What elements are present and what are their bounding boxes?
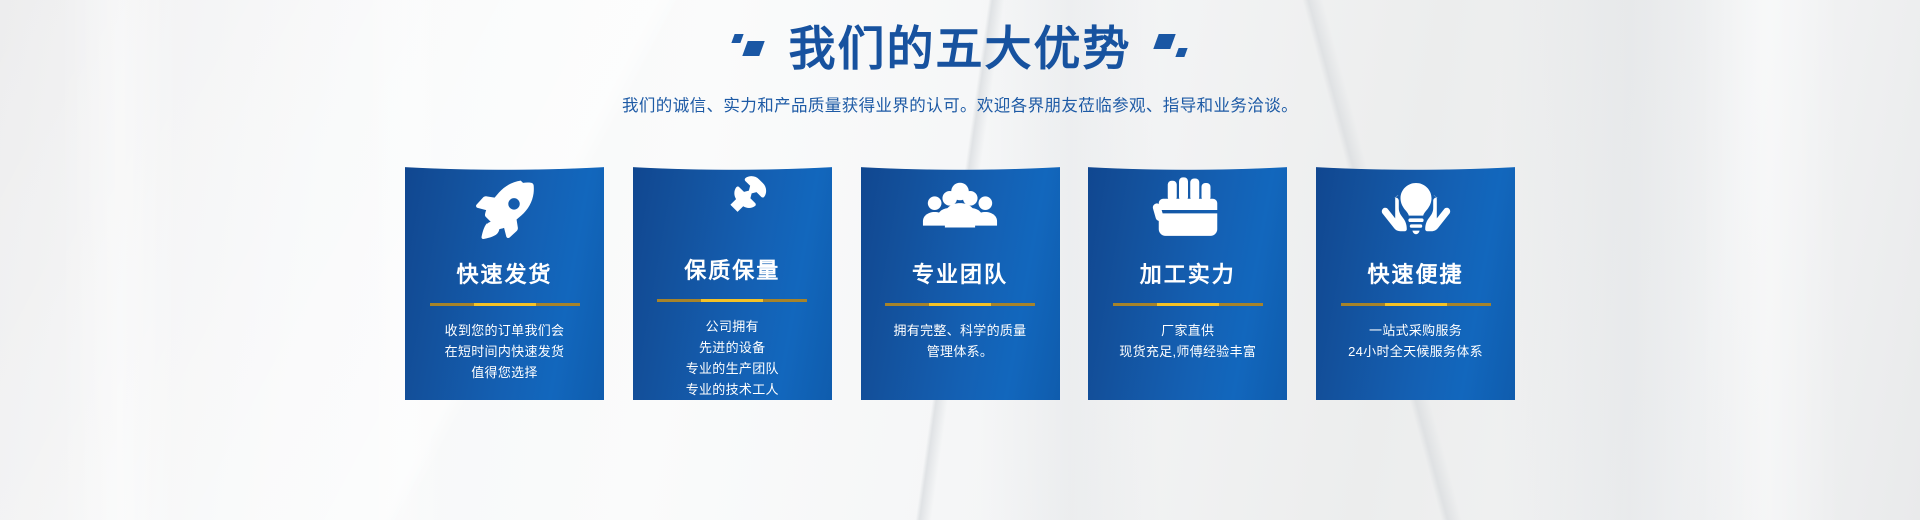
- promo-banner: 我们的五大优势 我们的诚信、实力和产品质量获得业界的认可。欢迎各界朋友莅临参观、…: [0, 0, 1920, 520]
- card-description-line: 拥有完整、科学的质量: [893, 320, 1026, 341]
- card-description: 公司拥有 先进的设备 专业的生产团队 专业的技术工人: [678, 316, 787, 400]
- card-title: 保质保量: [684, 260, 780, 282]
- lightbulb-hands-icon: [1376, 154, 1456, 266]
- card-description-line: 管理体系。: [893, 341, 1026, 362]
- card-divider: [1113, 303, 1263, 306]
- card-divider: [657, 299, 807, 302]
- advantage-card[interactable]: 保质保量 公司拥有 先进的设备 专业的生产团队 专业的技术工人: [633, 140, 832, 400]
- card-title: 专业团队: [912, 264, 1008, 286]
- page-subtitle: 我们的诚信、实力和产品质量获得业界的认可。欢迎各界朋友莅临参观、指导和业务洽谈。: [0, 92, 1920, 116]
- diamond-pair-icon-right: [1154, 31, 1188, 65]
- advantage-card[interactable]: 快速便捷 一站式采购服务 24小时全天候服务体系: [1316, 140, 1515, 400]
- card-description-line: 24小时全天候服务体系: [1348, 341, 1483, 362]
- card-description-line: 先进的设备: [686, 337, 779, 358]
- advantage-card[interactable]: 快速发货 收到您的订单我们会 在短时间内快速发货 值得您选择: [405, 140, 604, 400]
- card-divider: [885, 303, 1035, 306]
- card-description: 一站式采购服务 24小时全天候服务体系: [1340, 320, 1491, 362]
- card-description-line: 公司拥有: [686, 316, 779, 337]
- advantage-card[interactable]: 加工实力 厂家直供 现货充足,师傅经验丰富: [1088, 140, 1287, 400]
- card-divider: [1341, 303, 1491, 306]
- heading-block: 我们的五大优势 我们的诚信、实力和产品质量获得业界的认可。欢迎各界朋友莅临参观、…: [0, 18, 1920, 116]
- card-description: 厂家直供 现货充足,师傅经验丰富: [1111, 320, 1264, 362]
- diamond-pair-icon-left: [733, 31, 767, 65]
- card-description-line: 值得您选择: [445, 362, 565, 383]
- card-description-line: 现货充足,师傅经验丰富: [1119, 341, 1256, 362]
- page-title: 我们的五大优势: [789, 25, 1132, 72]
- card-title: 加工实力: [1140, 264, 1236, 286]
- title-row: 我们的五大优势: [0, 18, 1920, 78]
- card-description-line: 收到您的订单我们会: [445, 320, 565, 341]
- card-title: 快速便捷: [1367, 264, 1463, 286]
- card-description-line: 一站式采购服务: [1348, 320, 1483, 341]
- card-description: 收到您的订单我们会 在短时间内快速发货 值得您选择: [437, 320, 573, 383]
- wrench-screwdriver-icon: [695, 154, 769, 262]
- card-title: 快速发货: [456, 264, 552, 286]
- card-description-line: 在短时间内快速发货: [445, 341, 565, 362]
- advantage-card[interactable]: 专业团队 拥有完整、科学的质量 管理体系。: [861, 140, 1060, 400]
- card-description-line: 专业的技术工人: [686, 379, 779, 400]
- rocket-icon: [468, 154, 542, 266]
- fist-strength-icon: [1152, 154, 1224, 266]
- team-group-icon: [921, 154, 999, 266]
- advantage-card-list: 快速发货 收到您的订单我们会 在短时间内快速发货 值得您选择: [405, 140, 1515, 400]
- card-description-line: 厂家直供: [1119, 320, 1256, 341]
- card-divider: [430, 303, 580, 306]
- card-description-line: 专业的生产团队: [686, 358, 779, 379]
- card-description: 拥有完整、科学的质量 管理体系。: [885, 320, 1034, 362]
